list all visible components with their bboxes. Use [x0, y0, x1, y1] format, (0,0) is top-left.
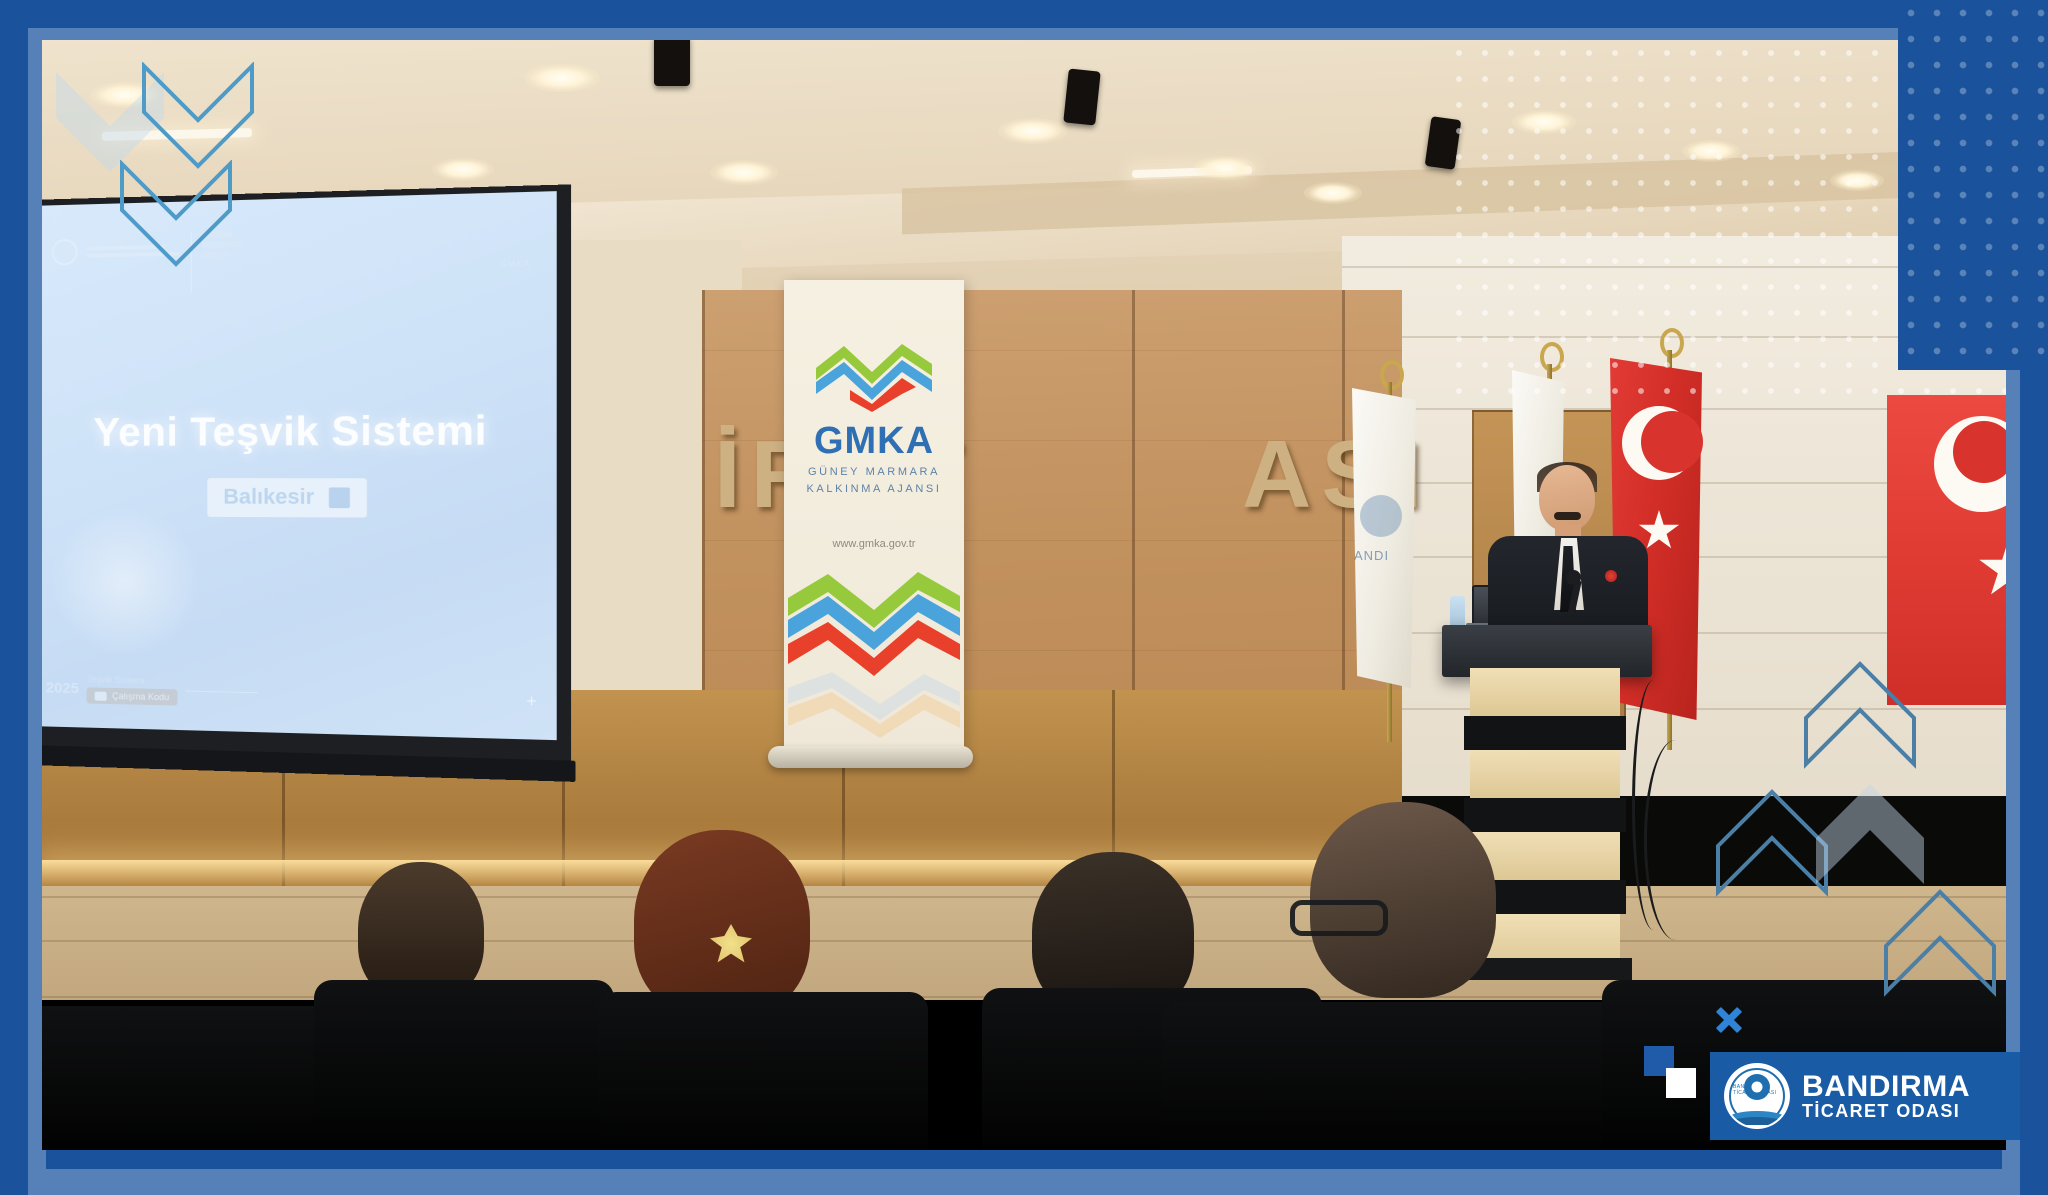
- slide-region-label: Balıkesir: [223, 485, 314, 510]
- ceiling-downlight: [1830, 170, 1884, 191]
- flag-finial-icon: [1660, 328, 1684, 358]
- projector-hotspot: [50, 506, 201, 659]
- chevron-down-icon: [329, 487, 350, 508]
- projected-slide: GMKA Yeni Teşvik Sistemi Balıkesir 2025 …: [42, 191, 557, 740]
- slide-gmka-logo-icon: GMKA: [500, 253, 530, 273]
- audience-head: [634, 830, 810, 1018]
- plus-icon: +: [526, 691, 537, 712]
- frame-band-bottom: [28, 1169, 2020, 1195]
- audience-seat: [42, 1006, 352, 1150]
- slide-footer-rule: [186, 691, 258, 694]
- audience-seat: [1162, 1002, 1622, 1150]
- ceiling-downlight: [1512, 110, 1576, 134]
- flag-finial-icon: [1540, 342, 1564, 372]
- track-spotlight: [654, 40, 690, 86]
- chamber-emblem-icon: BANDIRMA TİCARET ODASI: [1726, 1065, 1788, 1127]
- eyeglasses-icon: [1290, 900, 1388, 936]
- track-spotlight: [1063, 68, 1100, 125]
- decorative-square-white: [1666, 1068, 1696, 1098]
- speaker-moustache: [1554, 512, 1581, 520]
- event-photograph: İRET ASI: [42, 40, 2006, 1150]
- ceiling-downlight: [1194, 156, 1256, 180]
- gmka-subtitle-line2: KALKINMA AJANSI: [784, 483, 964, 495]
- crescent-icon: [1622, 406, 1696, 480]
- speaker-head: [1539, 465, 1595, 531]
- ministry-wordmark: [87, 244, 180, 257]
- slide-region-chip: Balıkesir: [207, 478, 367, 517]
- ceiling-downlight: [524, 64, 600, 92]
- slide-footer-button-label: Çalışma Kodu: [112, 691, 169, 702]
- chamber-name-line2: TİCARET ODASI: [1802, 1102, 1970, 1121]
- slide-footer-button: Çalışma Kodu: [87, 687, 177, 705]
- speaker-lapel-pin: [1605, 570, 1617, 582]
- gmka-url: www.gmka.gov.tr: [784, 538, 964, 550]
- audience-seat: [314, 980, 614, 1150]
- gmka-banner-wave-graphic-faded: [788, 670, 960, 740]
- slide-secondary-logo-icon: [191, 230, 268, 293]
- slide-footer: 2025 Teşvik Sistemi Çalışma Kodu: [46, 673, 258, 707]
- ceiling-downlight: [1682, 140, 1740, 162]
- ministry-ring-icon: [52, 239, 78, 266]
- projector-screen: GMKA Yeni Teşvik Sistemi Balıkesir 2025 …: [42, 184, 571, 760]
- slide-corner-logo-label: GMKA: [500, 259, 530, 269]
- slide-title: Yeni Teşvik Sistemi: [42, 408, 557, 456]
- ceiling-downlight: [710, 160, 778, 185]
- chamber-name-line1: BANDIRMA: [1802, 1071, 1970, 1103]
- cable: [1644, 740, 1707, 940]
- slide-footer-year: 2025: [46, 679, 79, 697]
- chevron-up-decoration: [1812, 780, 1928, 900]
- close-icon[interactable]: [1712, 1003, 1746, 1037]
- gear-icon: [1744, 1074, 1770, 1100]
- slide-footer-label: Teşvik Sistemi: [87, 674, 177, 686]
- institution-flag: [1352, 388, 1416, 688]
- institution-flag-emblem: [1360, 495, 1402, 537]
- institution-flag-text: ANDI: [1354, 548, 1389, 563]
- chamber-logo-text: BANDIRMA TİCARET ODASI: [1802, 1071, 1970, 1121]
- podium-base: [1460, 958, 1632, 980]
- decorative-frame: İRET ASI: [0, 0, 2048, 1195]
- gmka-rollup-banner: GMKA GÜNEY MARMARA KALKINMA AJANSI www.g…: [784, 280, 964, 752]
- gmka-logo-icon: [810, 338, 938, 412]
- ceiling-downlight: [90, 82, 160, 108]
- microphone-head-icon: [1566, 570, 1581, 585]
- ceiling-downlight: [1304, 182, 1362, 204]
- rollup-banner-base: [768, 746, 973, 768]
- bandirma-chamber-logo-card[interactable]: BANDIRMA TİCARET ODASI BANDIRMA TİCARET …: [1710, 1052, 2020, 1140]
- play-icon: [95, 691, 107, 700]
- ceiling-downlight: [998, 118, 1068, 144]
- ceiling-downlight: [432, 158, 494, 181]
- audience-seat: [598, 992, 928, 1150]
- gmka-wordmark: GMKA: [784, 420, 964, 463]
- flag-finial-icon: [1380, 360, 1404, 390]
- ministry-logo-icon: [52, 236, 180, 265]
- gmka-subtitle-line1: GÜNEY MARMARA: [784, 466, 964, 478]
